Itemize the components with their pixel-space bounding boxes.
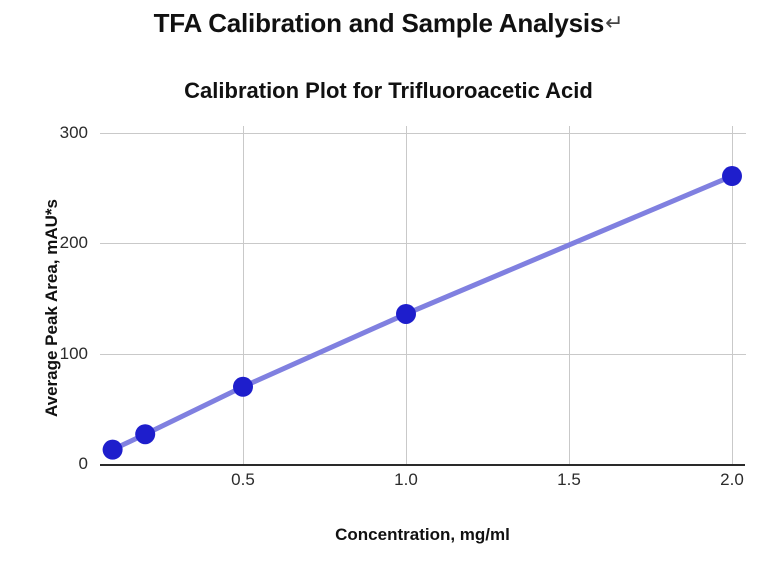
series-markers bbox=[103, 166, 742, 460]
gridline-x-2.0 bbox=[732, 126, 733, 464]
x-axis-label: Concentration, mg/ml bbox=[100, 525, 745, 545]
y-tick-label-0: 0 bbox=[32, 454, 88, 474]
y-tick-label-100: 100 bbox=[32, 344, 88, 364]
gridline-y-300 bbox=[100, 133, 746, 134]
x-tick-label-0.5: 0.5 bbox=[231, 470, 255, 490]
y-tick-label-200: 200 bbox=[32, 233, 88, 253]
gridline-x-0.5 bbox=[243, 126, 244, 464]
y-axis-label: Average Peak Area, mAU*s bbox=[42, 158, 62, 458]
page-canvas: TFA Calibration and Sample Analysis↵ Cal… bbox=[0, 0, 777, 588]
gridline-x-1.0 bbox=[406, 126, 407, 464]
gridline-y-100 bbox=[100, 354, 746, 355]
x-tick-label-1.5: 1.5 bbox=[557, 470, 581, 490]
chart-title: Calibration Plot for Trifluoroacetic Aci… bbox=[0, 78, 777, 104]
data-point bbox=[103, 440, 123, 460]
x-tick-label-1.0: 1.0 bbox=[394, 470, 418, 490]
y-tick-label-300: 300 bbox=[32, 123, 88, 143]
gridline-x-1.5 bbox=[569, 126, 570, 464]
calibration-chart: Calibration Plot for Trifluoroacetic Aci… bbox=[0, 0, 777, 588]
gridline-y-200 bbox=[100, 243, 746, 244]
x-axis-line bbox=[100, 464, 745, 466]
x-tick-label-2.0: 2.0 bbox=[720, 470, 744, 490]
series-line-trifluoroacetic-acid bbox=[113, 176, 732, 450]
data-point bbox=[135, 424, 155, 444]
